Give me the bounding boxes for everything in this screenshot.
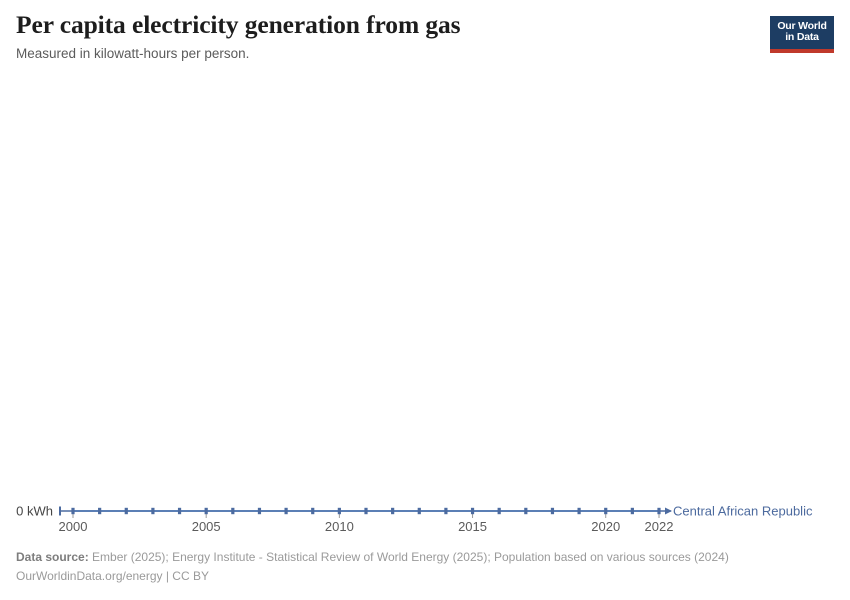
data-point-marker	[364, 508, 367, 514]
y-axis-label-group: 0 kWh	[16, 504, 53, 519]
chart-footer: Data source: Ember (2025); Energy Instit…	[16, 548, 816, 586]
data-point-marker	[391, 508, 394, 514]
axis-start-cap	[59, 507, 61, 516]
data-point-marker	[151, 508, 154, 514]
data-point-marker	[471, 508, 474, 514]
x-axis-tick-label: 2000	[59, 519, 88, 533]
data-point-marker	[338, 508, 341, 514]
x-axis-tick-label: 2015	[458, 519, 487, 533]
chart-subtitle: Measured in kilowatt-hours per person.	[16, 45, 756, 63]
x-axis-tick-label: 2005	[192, 519, 221, 533]
data-point-marker	[311, 508, 314, 514]
line-chart-svg[interactable]: 200020052010201520202022 0 kWh Central A…	[0, 78, 850, 533]
data-point-marker	[284, 508, 287, 514]
x-axis-tick-label: 2020	[591, 519, 620, 533]
data-point-marker	[524, 508, 527, 514]
owid-logo-line-2: in Data	[785, 32, 819, 44]
data-point-marker	[205, 508, 208, 514]
data-point-marker	[444, 508, 447, 514]
data-point-marker	[551, 508, 554, 514]
x-axis-tick-label: 2010	[325, 519, 354, 533]
data-point-marker	[657, 508, 660, 514]
data-point-marker	[577, 508, 580, 514]
x-axis-tick-label: 2022	[645, 519, 674, 533]
data-source-text: Ember (2025); Energy Institute - Statist…	[92, 550, 729, 564]
series-label-central-african-republic: Central African Republic	[673, 504, 813, 519]
series-label-group: Central African Republic	[673, 504, 813, 519]
x-axis-tick-labels: 200020052010201520202022	[59, 519, 674, 533]
data-point-marker	[125, 508, 128, 514]
data-source-label: Data source:	[16, 550, 89, 564]
data-point-marker	[178, 508, 181, 514]
page-title: Per capita electricity generation from g…	[16, 10, 756, 39]
data-source-line: Data source: Ember (2025); Energy Instit…	[16, 548, 816, 567]
axis-end-arrow	[665, 508, 672, 515]
data-point-marker	[498, 508, 501, 514]
data-point-marker	[258, 508, 261, 514]
data-point-marker	[604, 508, 607, 514]
data-point-marker	[231, 508, 234, 514]
y-axis-label: 0 kWh	[16, 504, 53, 519]
chart-header: Per capita electricity generation from g…	[16, 10, 756, 63]
data-point-marker	[71, 508, 74, 514]
owid-logo[interactable]: Our World in Data	[770, 16, 834, 53]
data-point-marker	[418, 508, 421, 514]
data-point-marker	[631, 508, 634, 514]
data-point-marker	[98, 508, 101, 514]
chart-plot-area[interactable]: 200020052010201520202022 0 kWh Central A…	[0, 78, 850, 533]
license-line[interactable]: OurWorldinData.org/energy | CC BY	[16, 567, 816, 586]
